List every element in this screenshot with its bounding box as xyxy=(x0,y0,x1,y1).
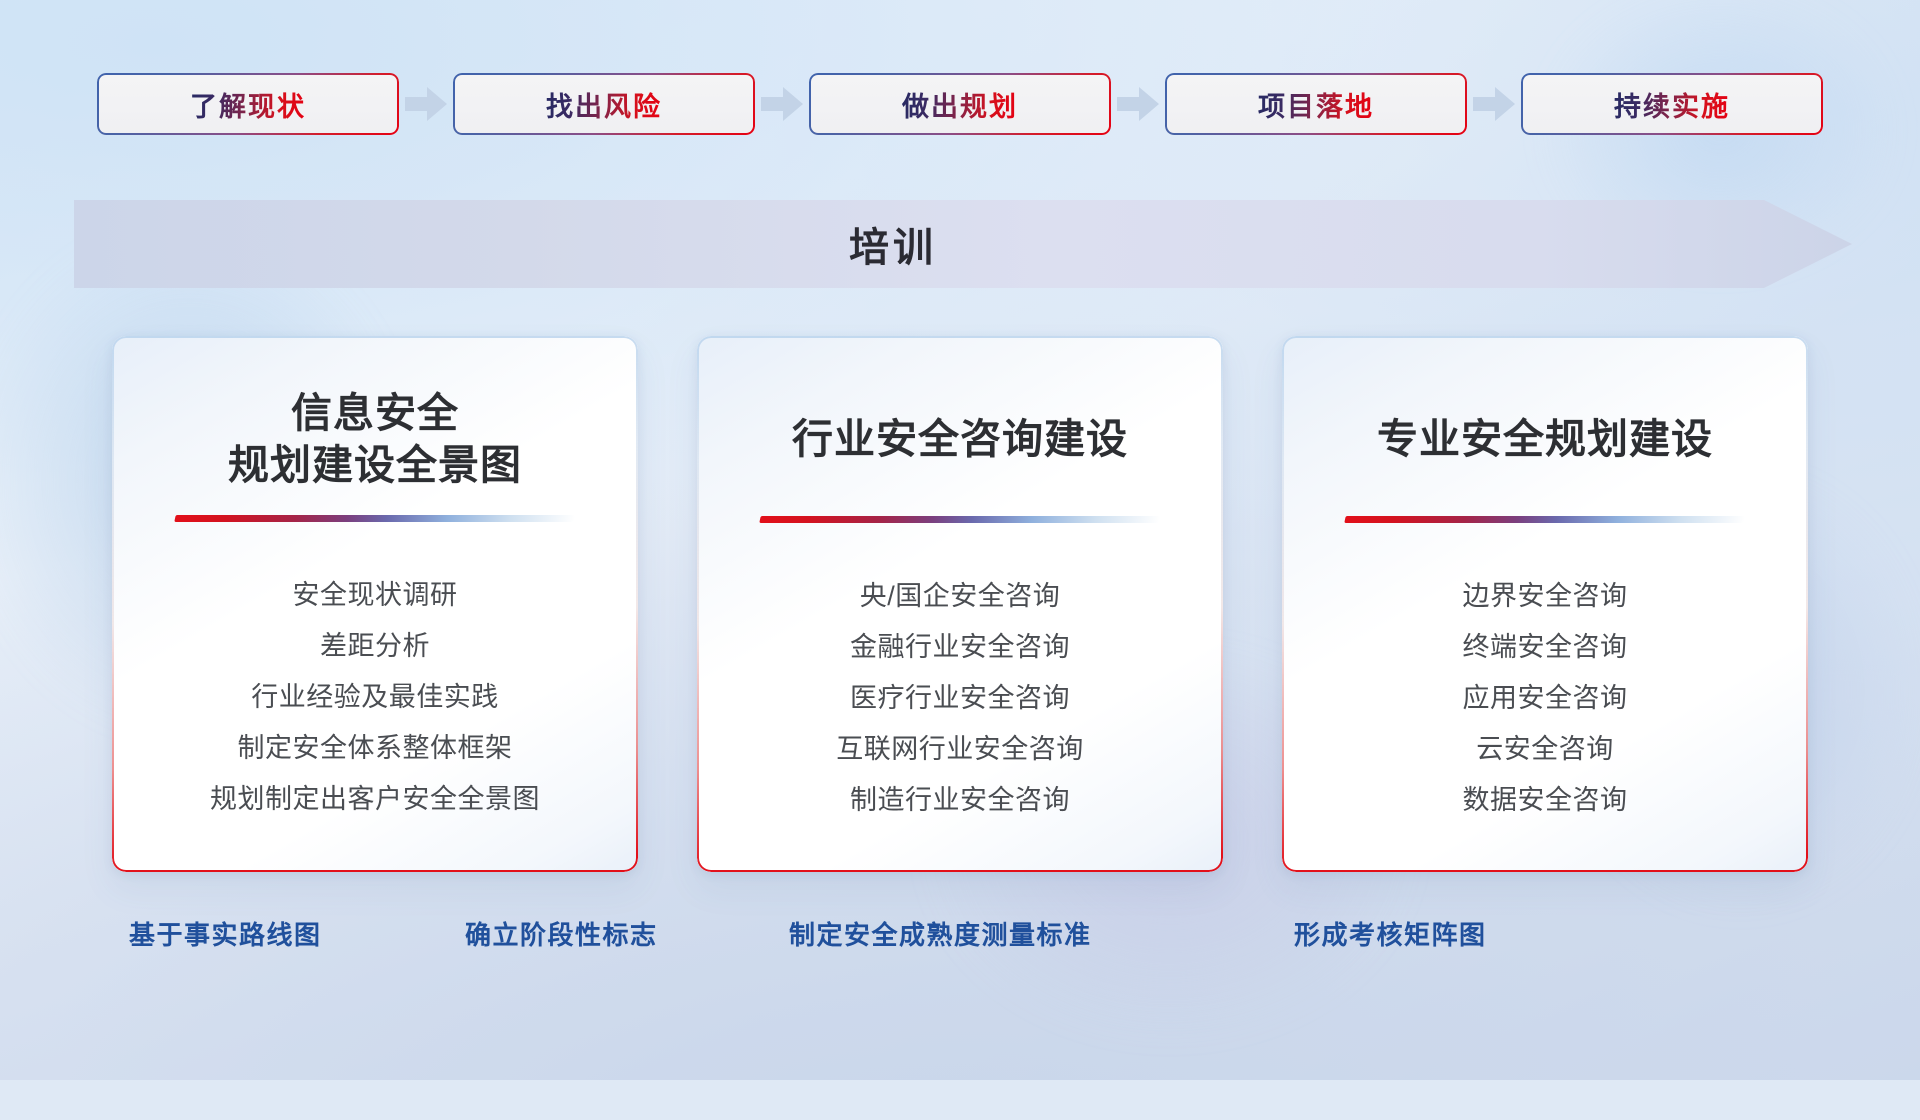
list-item: 云安全咨询 xyxy=(1476,724,1614,775)
card-title-1: 行业安全咨询建设 xyxy=(725,388,1195,492)
card-0[interactable]: 信息安全 规划建设全景图 安全现状调研 差距分析 行业经验及最佳实践 制定安全体… xyxy=(112,336,638,872)
step-chip-2[interactable]: 做出规划 xyxy=(809,73,1111,135)
arrow-right-icon-3 xyxy=(1467,73,1521,135)
card-divider-2 xyxy=(1344,516,1745,523)
card-2[interactable]: 专业安全规划建设 边界安全咨询 终端安全咨询 应用安全咨询 云安全咨询 数据安全… xyxy=(1282,336,1808,872)
step-label-4: 持续实施 xyxy=(1614,85,1730,124)
list-item: 差距分析 xyxy=(320,621,430,672)
list-item: 安全现状调研 xyxy=(293,570,458,621)
list-item: 行业经验及最佳实践 xyxy=(251,672,499,723)
arrow-right-icon-0 xyxy=(399,73,453,135)
list-item: 医疗行业安全咨询 xyxy=(850,673,1070,724)
card-title-line1-0: 信息安全 xyxy=(140,388,610,440)
list-item: 金融行业安全咨询 xyxy=(850,622,1070,673)
bottom-label-1: 确立阶段性标志 xyxy=(465,915,658,952)
list-item: 应用安全咨询 xyxy=(1463,673,1628,724)
arrow-right-icon-2 xyxy=(1111,73,1165,135)
card-list-0: 安全现状调研 差距分析 行业经验及最佳实践 制定安全体系整体框架 规划制定出客户… xyxy=(140,570,610,825)
card-title-line2-0: 规划建设全景图 xyxy=(140,440,610,492)
card-divider-1 xyxy=(759,516,1160,523)
slide-stage: 了解现状 找出风险 做出规划 项目落地 xyxy=(0,0,1920,1080)
card-row: 信息安全 规划建设全景图 安全现状调研 差距分析 行业经验及最佳实践 制定安全体… xyxy=(0,336,1920,872)
step-chip-1[interactable]: 找出风险 xyxy=(453,73,755,135)
list-item: 数据安全咨询 xyxy=(1463,775,1628,826)
list-item: 终端安全咨询 xyxy=(1463,622,1628,673)
bottom-label-3: 形成考核矩阵图 xyxy=(1294,915,1487,952)
step-chip-0[interactable]: 了解现状 xyxy=(97,73,399,135)
process-step-row: 了解现状 找出风险 做出规划 项目落地 xyxy=(0,73,1920,135)
step-chip-3[interactable]: 项目落地 xyxy=(1165,73,1467,135)
step-label-2: 做出规划 xyxy=(902,85,1018,124)
bottom-label-row: 基于事实路线图 确立阶段性标志 制定安全成熟度测量标准 形成考核矩阵图 xyxy=(0,915,1920,959)
list-item: 互联网行业安全咨询 xyxy=(836,724,1084,775)
card-list-2: 边界安全咨询 终端安全咨询 应用安全咨询 云安全咨询 数据安全咨询 xyxy=(1310,571,1780,826)
list-item: 央/国企安全咨询 xyxy=(860,571,1061,622)
card-list-1: 央/国企安全咨询 金融行业安全咨询 医疗行业安全咨询 互联网行业安全咨询 制造行… xyxy=(725,571,1195,826)
training-banner: 培训 xyxy=(74,200,1852,288)
step-label-3: 项目落地 xyxy=(1258,85,1374,124)
arrow-right-icon-1 xyxy=(755,73,809,135)
card-title-0: 信息安全 规划建设全景图 xyxy=(140,388,610,491)
bottom-label-0: 基于事实路线图 xyxy=(129,915,322,952)
card-1[interactable]: 行业安全咨询建设 央/国企安全咨询 金融行业安全咨询 医疗行业安全咨询 互联网行… xyxy=(697,336,1223,872)
list-item: 制定安全体系整体框架 xyxy=(238,723,513,774)
step-chip-4[interactable]: 持续实施 xyxy=(1521,73,1823,135)
step-label-0: 了解现状 xyxy=(190,85,306,124)
card-title-2: 专业安全规划建设 xyxy=(1310,388,1780,492)
list-item: 边界安全咨询 xyxy=(1463,571,1628,622)
list-item: 制造行业安全咨询 xyxy=(850,775,1070,826)
bottom-label-2: 制定安全成熟度测量标准 xyxy=(789,915,1092,952)
banner-label: 培训 xyxy=(74,200,1852,288)
step-label-1: 找出风险 xyxy=(546,85,662,124)
list-item: 规划制定出客户安全全景图 xyxy=(210,774,540,825)
card-divider-0 xyxy=(174,515,575,522)
